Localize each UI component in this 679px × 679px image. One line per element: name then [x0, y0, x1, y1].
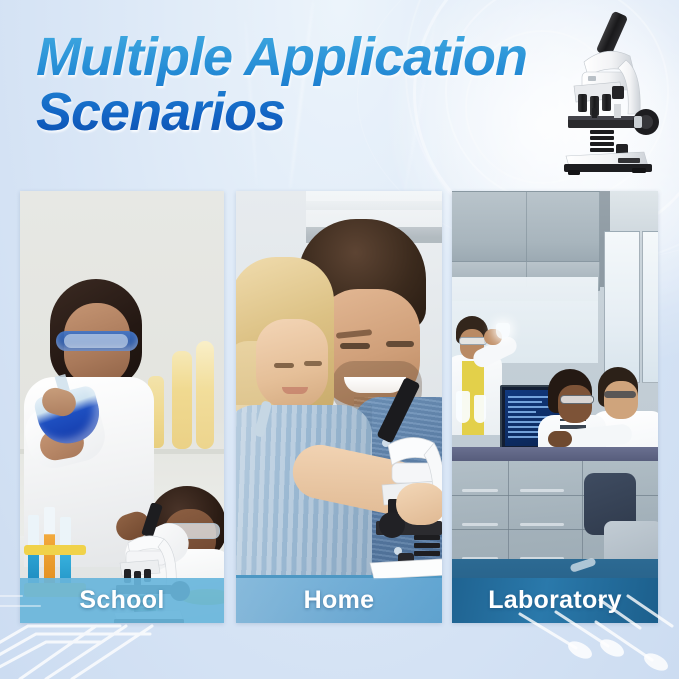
girl-eye-right	[304, 361, 322, 366]
home-microscope-icon	[358, 377, 442, 587]
lab-bench-top	[452, 447, 658, 461]
page-title-line-2: Scenarios	[36, 85, 576, 140]
scenario-panel-school[interactable]: School	[20, 191, 224, 623]
anatomy-model-b	[172, 351, 192, 449]
father-eye-left	[340, 343, 370, 349]
lab-window-1	[604, 231, 640, 383]
panel-label-laboratory-text: Laboratory	[488, 586, 622, 615]
panel-label-laboratory: Laboratory	[452, 578, 658, 623]
father-eye-right	[386, 341, 414, 347]
scientist-3-glasses	[604, 391, 636, 398]
overhead-cabinet-1	[452, 191, 528, 265]
page-title-line-1: Multiple Application	[36, 27, 527, 87]
girl-hand	[396, 483, 442, 525]
goggles-lens	[64, 334, 128, 348]
scientist-hand-typing	[548, 431, 572, 447]
bench-flask-1	[456, 391, 470, 423]
rack-top-rail	[24, 545, 86, 555]
scenario-panel-laboratory[interactable]: Laboratory	[452, 191, 658, 623]
panel-label-school-text: School	[79, 586, 164, 615]
scientist-2-glasses	[560, 395, 594, 404]
overhead-cabinet-2	[526, 191, 600, 265]
lab-window-2	[642, 231, 658, 383]
home-photo	[236, 191, 442, 623]
anatomy-model-c	[196, 341, 214, 449]
microscope-icon	[548, 10, 668, 175]
panel-label-home: Home	[236, 578, 442, 623]
school-photo	[20, 191, 224, 623]
scientist-2-face	[558, 385, 592, 423]
scientist-3-face	[604, 381, 638, 419]
bench-flask-2	[474, 395, 486, 423]
held-flask	[496, 323, 510, 339]
promo-banner: Multiple Application Scenarios	[0, 0, 679, 679]
page-title: Multiple Application Scenarios	[36, 30, 576, 140]
scenario-panels: School	[0, 191, 679, 623]
scenario-panel-home[interactable]: Home	[236, 191, 442, 623]
girl-eye-left	[274, 363, 294, 368]
panel-label-home-text: Home	[304, 586, 375, 615]
panel-label-school: School	[20, 578, 224, 623]
scientist-1-glasses	[459, 337, 487, 345]
girl-mouth	[282, 387, 308, 394]
laboratory-photo	[452, 191, 658, 623]
